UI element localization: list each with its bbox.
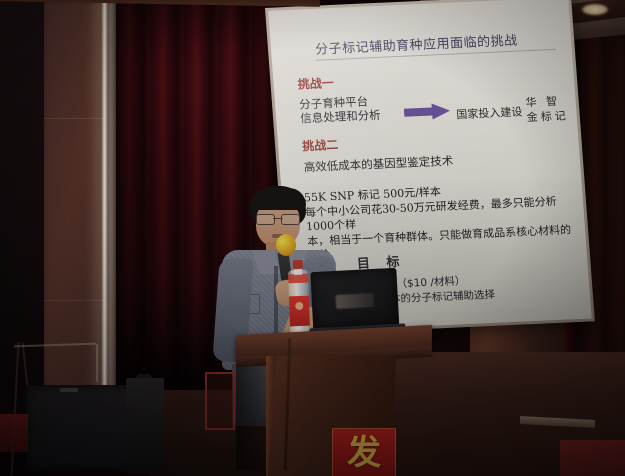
slide-challenge-one-body: 分子育种平台 信息处理和分析 (299, 94, 381, 126)
glasses-icon (256, 214, 300, 223)
podium-sign: 发 (332, 428, 396, 476)
monitor-brand-logo-icon (60, 388, 78, 392)
wall-panel (44, 0, 104, 420)
bottle-cap (293, 260, 303, 269)
hair-front (250, 188, 306, 210)
slide-challenge-one-heading: 挑战一 (297, 74, 334, 93)
water-bottle (288, 260, 311, 339)
slide-challenge-two-body: 高效低成本的基因型鉴定技术 (303, 153, 454, 176)
confidence-monitor (26, 385, 142, 471)
conference-presentation-photo: 分子标记辅助育种应用面临的挑战 挑战一 分子育种平台 信息处理和分析 国家投入建… (0, 0, 625, 476)
slide-challenge-one-right: 国家投入建设 (456, 103, 523, 122)
slide-challenge-two-heading: 挑战二 (302, 136, 339, 155)
slide-challenge-one-right-columns: 华 智 金标记 (525, 93, 569, 125)
laptop-lid (310, 268, 399, 330)
loudspeaker (126, 378, 164, 474)
vertical-light-strip (101, 0, 108, 430)
laptop-logo-icon (336, 293, 375, 309)
right-column-line2: 金标记 (526, 108, 569, 125)
red-carpet-floor (560, 440, 625, 476)
stand-vertical-arm (96, 344, 98, 382)
challenge-one-line2: 信息处理和分析 (300, 108, 381, 126)
slide-title: 分子标记辅助育种应用面临的挑战 (314, 28, 555, 58)
podium-sign-character: 发 (333, 431, 395, 475)
right-arrow-icon (403, 103, 450, 121)
ceiling-light-icon (582, 4, 608, 15)
wall-frame (205, 372, 235, 430)
red-seat (0, 414, 28, 452)
